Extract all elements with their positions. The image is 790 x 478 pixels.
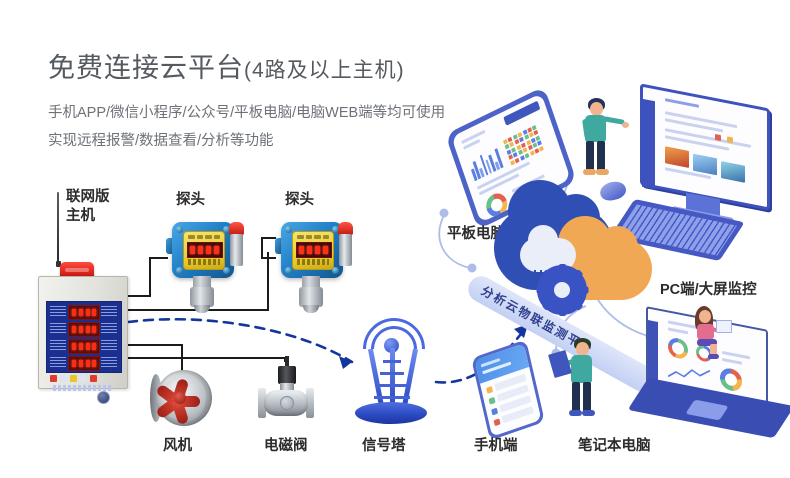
person-pointing bbox=[572, 98, 620, 182]
host-button-strip[interactable] bbox=[50, 375, 116, 382]
probe-left-label: 探头 bbox=[176, 188, 205, 209]
person-with-tablet bbox=[560, 338, 606, 422]
exhaust-fan[interactable] bbox=[150, 368, 214, 430]
seated-person-laptop bbox=[716, 320, 732, 333]
probe-housing bbox=[281, 222, 343, 278]
monitor-side-nav bbox=[642, 99, 655, 190]
gas-probe-right[interactable] bbox=[275, 216, 357, 314]
phone-label: 手机端 bbox=[474, 434, 518, 455]
signal-tower[interactable] bbox=[347, 312, 435, 430]
host-channel-row bbox=[50, 322, 118, 336]
page-title-paren: (4路及以上主机) bbox=[244, 59, 405, 82]
probe-lcd-readout bbox=[296, 242, 332, 258]
probe-display-face bbox=[292, 231, 334, 270]
valve-label: 电磁阀 bbox=[264, 434, 308, 455]
probe-lcd-readout bbox=[187, 242, 223, 258]
probe-display-face bbox=[183, 231, 225, 270]
host-label: 联网版 主机 bbox=[66, 188, 110, 226]
page-title-main: 免费连接云平台 bbox=[48, 53, 244, 83]
phone-app-screen bbox=[475, 343, 542, 436]
monitor-dashboard bbox=[640, 83, 770, 210]
valve-coil bbox=[278, 366, 296, 384]
subtitle-line-2: 实现远程报警/数据查看/分析等功能 bbox=[48, 129, 274, 150]
probe-sensor-head bbox=[299, 287, 323, 307]
probe-alarm-horn-icon bbox=[228, 222, 245, 266]
probe-sensor-head bbox=[190, 287, 214, 307]
pc-label: PC端/大屏监控 bbox=[660, 278, 757, 299]
person-seated bbox=[690, 306, 730, 360]
cloud-shape-inner bbox=[520, 238, 576, 272]
host-display-panel bbox=[46, 301, 122, 373]
fan-label: 风机 bbox=[163, 434, 192, 455]
probe-right-label: 探头 bbox=[285, 188, 314, 209]
valve-body bbox=[264, 390, 308, 416]
tower-base bbox=[355, 402, 427, 424]
host-enclosure bbox=[38, 276, 128, 389]
host-channel-row bbox=[50, 305, 118, 319]
probe-status-leds bbox=[297, 235, 329, 239]
subtitle-line-1: 手机APP/微信小程序/公众号/平板电脑/电脑WEB端等均可使用 bbox=[48, 101, 445, 122]
laptop-label: 笔记本电脑 bbox=[578, 434, 651, 455]
fan-hub bbox=[174, 392, 186, 404]
probe-housing bbox=[172, 222, 234, 278]
networked-host-controller[interactable] bbox=[38, 262, 126, 387]
tower-label: 信号塔 bbox=[362, 434, 406, 455]
host-channel-row bbox=[50, 339, 118, 353]
host-power-knob[interactable] bbox=[97, 391, 110, 404]
probe-status-leds bbox=[188, 235, 220, 239]
handheld-tablet bbox=[548, 350, 572, 378]
probe-alarm-horn-icon bbox=[337, 222, 354, 266]
host-channel-row bbox=[50, 356, 118, 370]
smartphone-device[interactable] bbox=[471, 339, 545, 440]
antenna-icon bbox=[57, 192, 59, 264]
infographic-canvas: 免费连接云平台(4路及以上主机) 手机APP/微信小程序/公众号/平板电脑/电脑… bbox=[0, 0, 790, 478]
solenoid-valve[interactable] bbox=[252, 356, 318, 432]
gas-probe-left[interactable] bbox=[166, 216, 248, 314]
page-title: 免费连接云平台(4路及以上主机) bbox=[48, 46, 405, 85]
cloud-platform[interactable]: 分析云物联监测平台 bbox=[452, 198, 662, 348]
gear-icon bbox=[542, 270, 582, 310]
